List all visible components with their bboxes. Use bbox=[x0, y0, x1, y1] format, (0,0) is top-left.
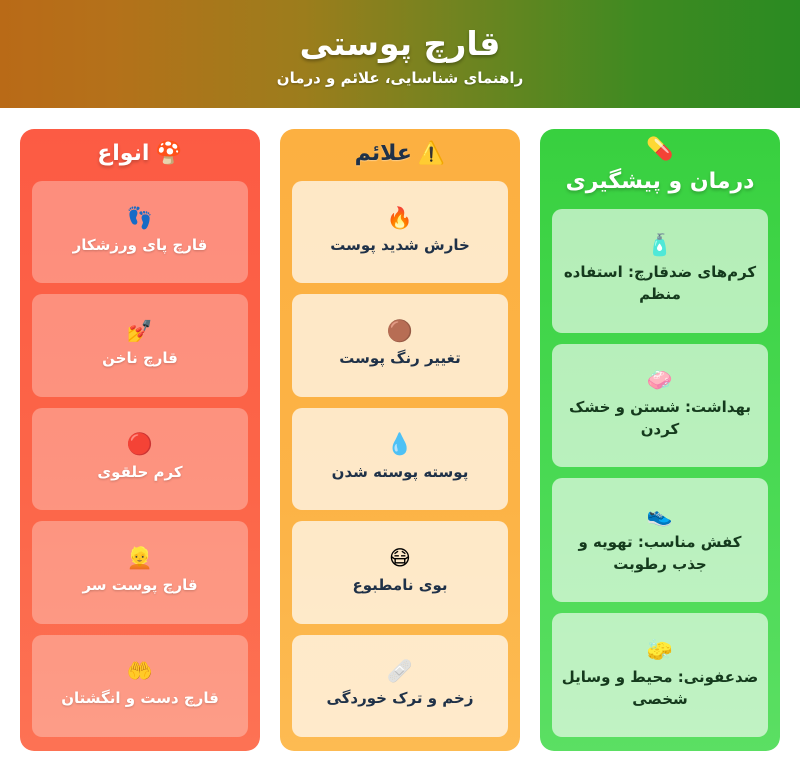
card-types-4[interactable]: 👱قارچ پوست سر bbox=[32, 521, 248, 623]
column-heading-label: درمان و پیشگیری bbox=[566, 167, 755, 197]
face-with-medical-mask-icon: 😷 bbox=[389, 547, 411, 569]
card-label: بوی نامطبوع bbox=[353, 575, 448, 597]
card-treatment-1[interactable]: 🧴کرم‌های ضدقارچ: استفاده منظم bbox=[552, 209, 768, 333]
card-treatment-2[interactable]: 🧼بهداشت: شستن و خشک کردن bbox=[552, 344, 768, 468]
sponge-icon: 🧽 bbox=[647, 639, 673, 661]
card-symptoms-2[interactable]: 🟤تغییر رنگ پوست bbox=[292, 294, 508, 396]
lotion-bottle-icon: 🧴 bbox=[647, 234, 673, 256]
card-label: کرم حلقوی bbox=[97, 462, 182, 484]
footprints-icon: 👣 bbox=[127, 207, 153, 229]
card-types-2[interactable]: 💅قارچ ناخن bbox=[32, 294, 248, 396]
column-symptoms: ⚠️علائم🔥خارش شدید پوست🟤تغییر رنگ پوست💧پو… bbox=[280, 129, 520, 751]
card-symptoms-4[interactable]: 😷بوی نامطبوع bbox=[292, 521, 508, 623]
column-body-types: 👣قارچ پای ورزشکار💅قارچ ناخن🔴کرم حلقوی👱قا… bbox=[32, 181, 248, 737]
card-symptoms-5[interactable]: 🩹زخم و ترک خوردگی bbox=[292, 635, 508, 737]
card-label: قارچ دست و انگشتان bbox=[61, 688, 219, 710]
card-types-1[interactable]: 👣قارچ پای ورزشکار bbox=[32, 181, 248, 283]
mushroom-icon: 🍄 bbox=[155, 143, 182, 165]
adhesive-bandage-icon: 🩹 bbox=[387, 660, 413, 682]
card-symptoms-1[interactable]: 🔥خارش شدید پوست bbox=[292, 181, 508, 283]
infographic-root: قارچ پوستی راهنمای شناسایی، علائم و درما… bbox=[0, 0, 800, 759]
card-label: کرم‌های ضدقارچ: استفاده منظم bbox=[560, 262, 760, 306]
pill-icon: 💊 bbox=[646, 139, 673, 161]
column-treatment: 💊درمان و پیشگیری🧴کرم‌های ضدقارچ: استفاده… bbox=[540, 129, 780, 751]
page-title: قارچ پوستی bbox=[300, 25, 501, 63]
card-label: تغییر رنگ پوست bbox=[339, 348, 460, 370]
card-label: قارچ پوست سر bbox=[82, 575, 197, 597]
card-label: قارچ ناخن bbox=[102, 348, 178, 370]
droplet-icon: 💧 bbox=[387, 433, 413, 455]
card-symptoms-3[interactable]: 💧پوسته پوسته شدن bbox=[292, 408, 508, 510]
warning-icon: ⚠️ bbox=[418, 143, 445, 165]
soap-icon: 🧼 bbox=[647, 369, 673, 391]
column-body-symptoms: 🔥خارش شدید پوست🟤تغییر رنگ پوست💧پوسته پوس… bbox=[292, 181, 508, 737]
card-label: پوسته پوسته شدن bbox=[332, 462, 469, 484]
nail-polish-icon: 💅 bbox=[127, 320, 153, 342]
column-body-treatment: 🧴کرم‌های ضدقارچ: استفاده منظم🧼بهداشت: شس… bbox=[552, 209, 768, 737]
column-heading-label: علائم bbox=[355, 139, 412, 169]
running-shoe-icon: 👟 bbox=[647, 504, 673, 526]
card-label: قارچ پای ورزشکار bbox=[73, 235, 208, 257]
brown-circle-icon: 🟤 bbox=[387, 320, 413, 342]
column-header-types: 🍄انواع bbox=[32, 129, 248, 181]
fire-icon: 🔥 bbox=[387, 207, 413, 229]
columns-container: 🍄انواع👣قارچ پای ورزشکار💅قارچ ناخن🔴کرم حل… bbox=[0, 108, 800, 759]
card-label: کفش مناسب: تهویه و جذب رطوبت bbox=[560, 532, 760, 576]
column-header-treatment: 💊درمان و پیشگیری bbox=[552, 129, 768, 209]
red-circle-icon: 🔴 bbox=[127, 433, 153, 455]
card-treatment-4[interactable]: 🧽ضدعفونی: محیط و وسایل شخصی bbox=[552, 613, 768, 737]
palms-up-together-icon: 🤲 bbox=[127, 660, 153, 682]
card-label: بهداشت: شستن و خشک کردن bbox=[560, 397, 760, 441]
person-blond-hair-icon: 👱 bbox=[127, 547, 153, 569]
column-types: 🍄انواع👣قارچ پای ورزشکار💅قارچ ناخن🔴کرم حل… bbox=[20, 129, 260, 751]
column-heading-label: انواع bbox=[97, 139, 149, 169]
card-treatment-3[interactable]: 👟کفش مناسب: تهویه و جذب رطوبت bbox=[552, 478, 768, 602]
page-header: قارچ پوستی راهنمای شناسایی، علائم و درما… bbox=[0, 0, 800, 108]
card-types-5[interactable]: 🤲قارچ دست و انگشتان bbox=[32, 635, 248, 737]
card-label: ضدعفونی: محیط و وسایل شخصی bbox=[560, 667, 760, 711]
card-label: زخم و ترک خوردگی bbox=[327, 688, 474, 710]
card-label: خارش شدید پوست bbox=[330, 235, 470, 257]
page-subtitle: راهنمای شناسایی، علائم و درمان bbox=[277, 69, 523, 87]
card-types-3[interactable]: 🔴کرم حلقوی bbox=[32, 408, 248, 510]
column-header-symptoms: ⚠️علائم bbox=[292, 129, 508, 181]
